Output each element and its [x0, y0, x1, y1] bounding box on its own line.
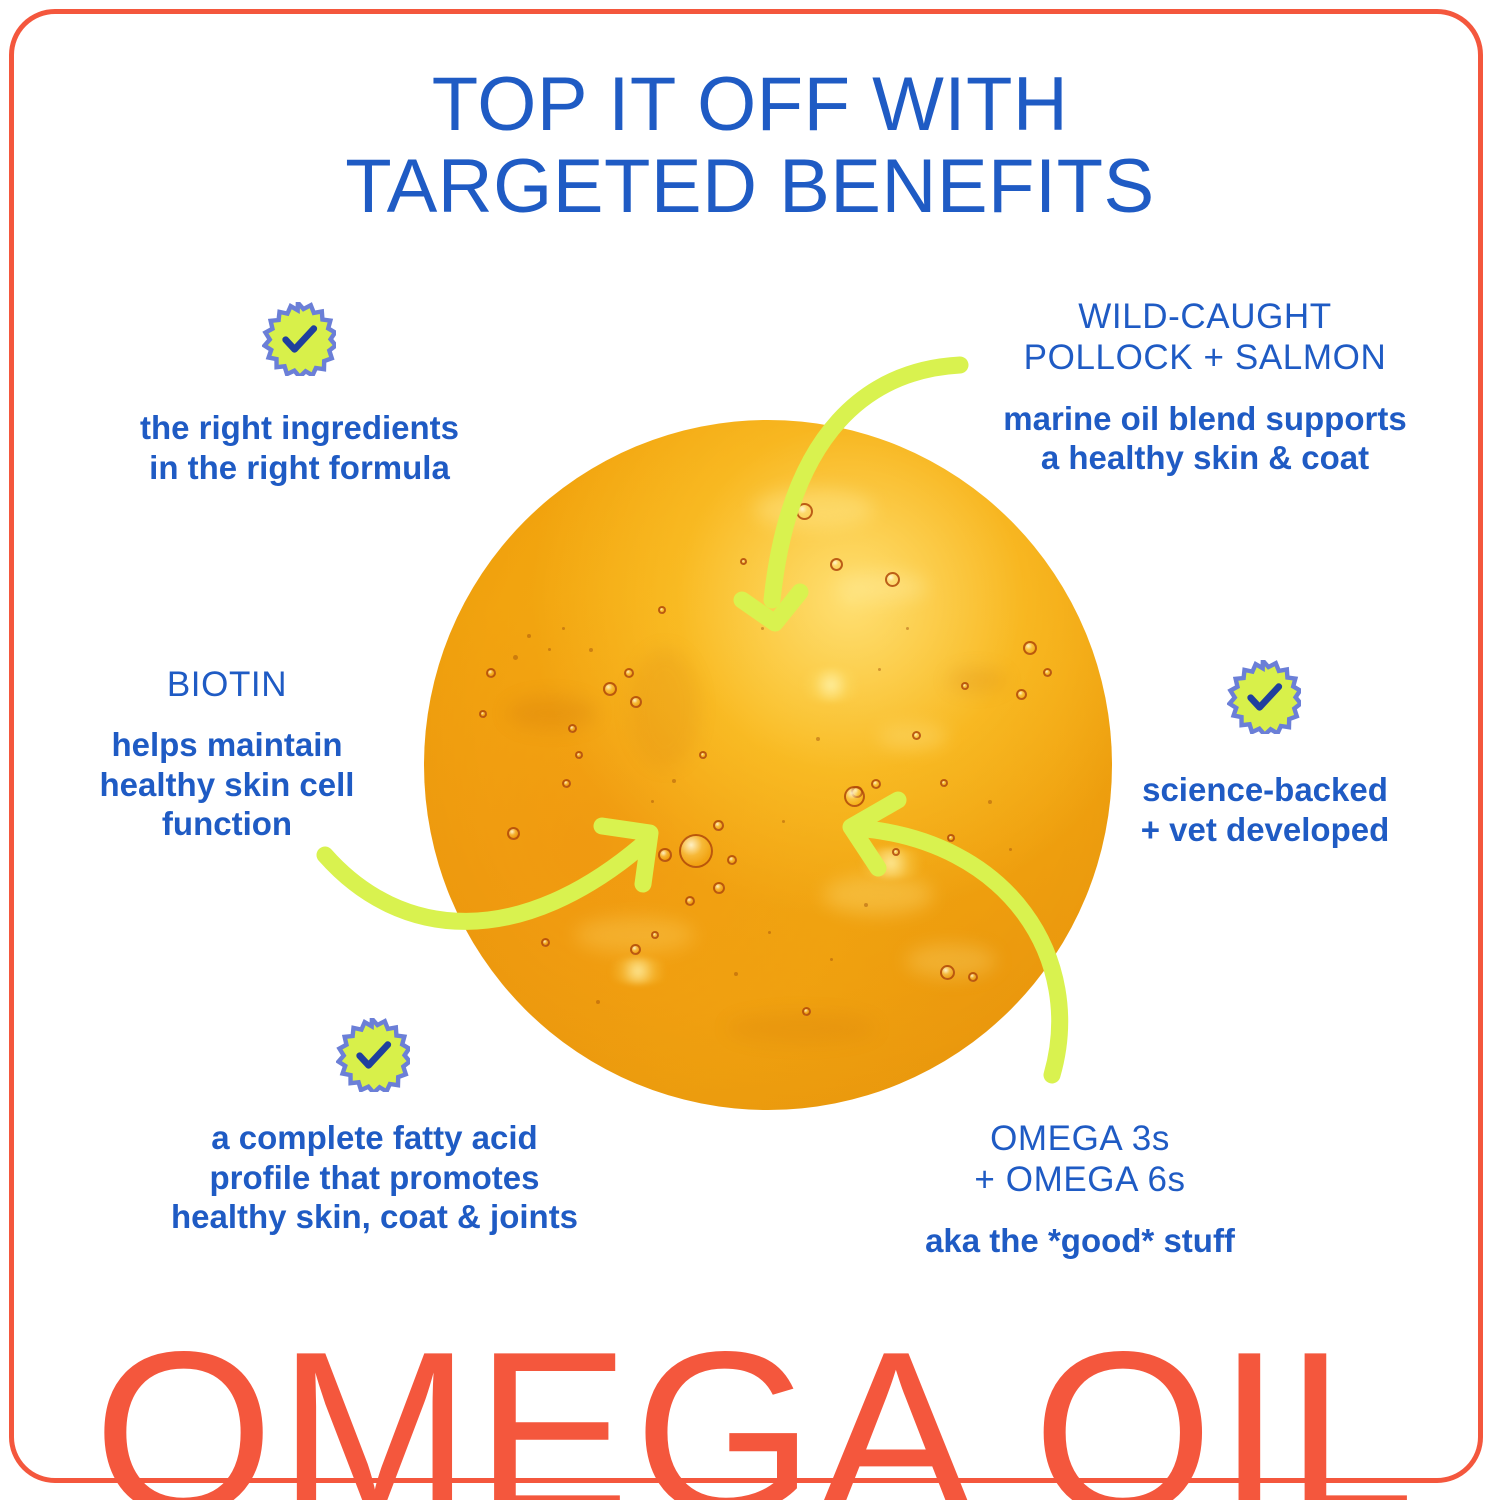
product-benefits-infographic: TOP IT OFF WITH TARGETED BENEFITS [0, 0, 1500, 1500]
callout-title-biotin: BIOTIN [52, 664, 402, 705]
callout-body-right-ingredients: the right ingredients in the right formu… [72, 408, 527, 487]
callout-body-fatty-acid: a complete fatty acid profile that promo… [132, 1118, 617, 1237]
callout-body-science-backed: science-backed + vet developed [1090, 770, 1440, 849]
check-badge-icon-ingredients [262, 302, 336, 376]
oil-circle [424, 420, 1112, 1110]
callout-fatty-acid: a complete fatty acid profile that promo… [132, 1118, 617, 1237]
callout-title-omega-36: OMEGA 3s + OMEGA 6s [855, 1118, 1305, 1201]
callout-omega-36: OMEGA 3s + OMEGA 6s aka the *good* stuff [855, 1118, 1305, 1260]
check-badge-icon-fatty-acid [336, 1018, 410, 1092]
check-badge-icon-science [1227, 660, 1301, 734]
callout-body-omega-36: aka the *good* stuff [855, 1221, 1305, 1261]
callout-title-wild-caught: WILD-CAUGHT POLLOCK + SALMON [955, 296, 1455, 379]
page-title: TOP IT OFF WITH TARGETED BENEFITS [0, 64, 1500, 228]
callout-biotin: BIOTIN helps maintain healthy skin cell … [52, 664, 402, 844]
product-wordmark: OMEGA OIL [0, 1318, 1500, 1500]
callout-right-ingredients: the right ingredients in the right formu… [72, 408, 527, 487]
callout-science-backed: science-backed + vet developed [1090, 770, 1440, 849]
callout-wild-caught: WILD-CAUGHT POLLOCK + SALMON marine oil … [955, 296, 1455, 478]
oil-macro-image [424, 420, 1112, 1110]
callout-body-wild-caught: marine oil blend supports a healthy skin… [955, 399, 1455, 478]
callout-body-biotin: helps maintain healthy skin cell functio… [52, 725, 402, 844]
